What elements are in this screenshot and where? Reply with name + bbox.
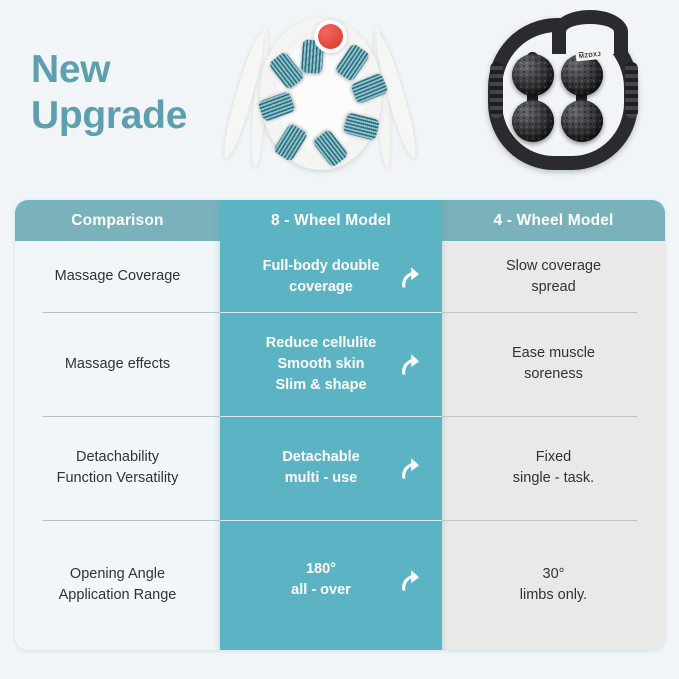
- curved-up-arrow-icon: [398, 455, 422, 481]
- massage-ball-roller: [561, 100, 603, 142]
- feature-label-massage-effects: Massage effects: [15, 312, 220, 416]
- value-8-wheel-opening-angle: 180° all - over: [220, 520, 442, 640]
- row-divider: [43, 416, 220, 417]
- value-text: Reduce cellulite Smooth skin Slim & shap…: [266, 333, 376, 396]
- curved-up-arrow-icon: [398, 264, 422, 290]
- value-text: Full-body double coverage: [263, 256, 380, 298]
- feature-text: Opening Angle Application Range: [59, 564, 177, 606]
- feature-text: Massage effects: [65, 354, 170, 375]
- value-text: Fixed single - task.: [513, 447, 594, 489]
- value-4-wheel-detachability: Fixed single - task.: [442, 416, 665, 520]
- page-title: New Upgrade: [31, 47, 187, 139]
- massage-ball-roller: [512, 54, 554, 96]
- row-divider: [43, 312, 220, 313]
- value-text: Detachable multi - use: [282, 447, 359, 489]
- row-divider: [442, 312, 637, 313]
- title-line-2: Upgrade: [31, 93, 187, 139]
- feature-label-detachability: Detachability Function Versatility: [15, 416, 220, 520]
- value-8-wheel-effects: Reduce cellulite Smooth skin Slim & shap…: [220, 312, 442, 416]
- massage-ball-roller: [512, 100, 554, 142]
- massager-ring-body: [488, 18, 638, 170]
- value-8-wheel-detachability: Detachable multi - use: [220, 416, 442, 520]
- header-8-wheel: 8 - Wheel Model: [220, 200, 442, 241]
- value-text: Slow coverage spread: [506, 256, 601, 298]
- product-image-8-wheel: [228, 6, 414, 186]
- row-divider: [220, 416, 442, 417]
- value-text: 30° limbs only.: [520, 564, 587, 606]
- header-4-wheel: 4 - Wheel Model: [442, 200, 665, 241]
- curved-up-arrow-icon: [398, 351, 422, 377]
- value-4-wheel-coverage: Slow coverage spread: [442, 241, 665, 312]
- brand-badge-icon: [314, 20, 347, 53]
- header-comparison: Comparison: [15, 200, 220, 241]
- row-divider: [220, 312, 442, 313]
- product-image-4-wheel: MZDXJ: [468, 6, 656, 186]
- row-divider: [442, 520, 637, 521]
- value-8-wheel-coverage: Full-body double coverage: [220, 241, 442, 312]
- value-text: Ease muscle soreness: [512, 343, 595, 385]
- column-8-wheel-highlight: 8 - Wheel Model Full-body double coverag…: [220, 200, 442, 650]
- title-line-1: New: [31, 48, 110, 91]
- value-text: 180° all - over: [291, 559, 351, 601]
- feature-label-opening-angle: Opening Angle Application Range: [15, 520, 220, 650]
- row-divider: [220, 520, 442, 521]
- value-4-wheel-opening-angle: 30° limbs only.: [442, 520, 665, 650]
- feature-text: Detachability Function Versatility: [57, 447, 179, 489]
- curved-up-arrow-icon: [398, 567, 422, 593]
- row-divider: [442, 416, 637, 417]
- comparison-table: Comparison 4 - Wheel Model Massage Cover…: [15, 200, 665, 650]
- feature-label-massage-coverage: Massage Coverage: [15, 241, 220, 312]
- feature-text: Massage Coverage: [55, 266, 181, 287]
- massager-grip: [625, 62, 638, 118]
- row-divider: [43, 520, 220, 521]
- value-4-wheel-effects: Ease muscle soreness: [442, 312, 665, 416]
- massager-grip: [490, 62, 503, 118]
- hero-section: New Upgrade MZDXJ: [0, 0, 679, 196]
